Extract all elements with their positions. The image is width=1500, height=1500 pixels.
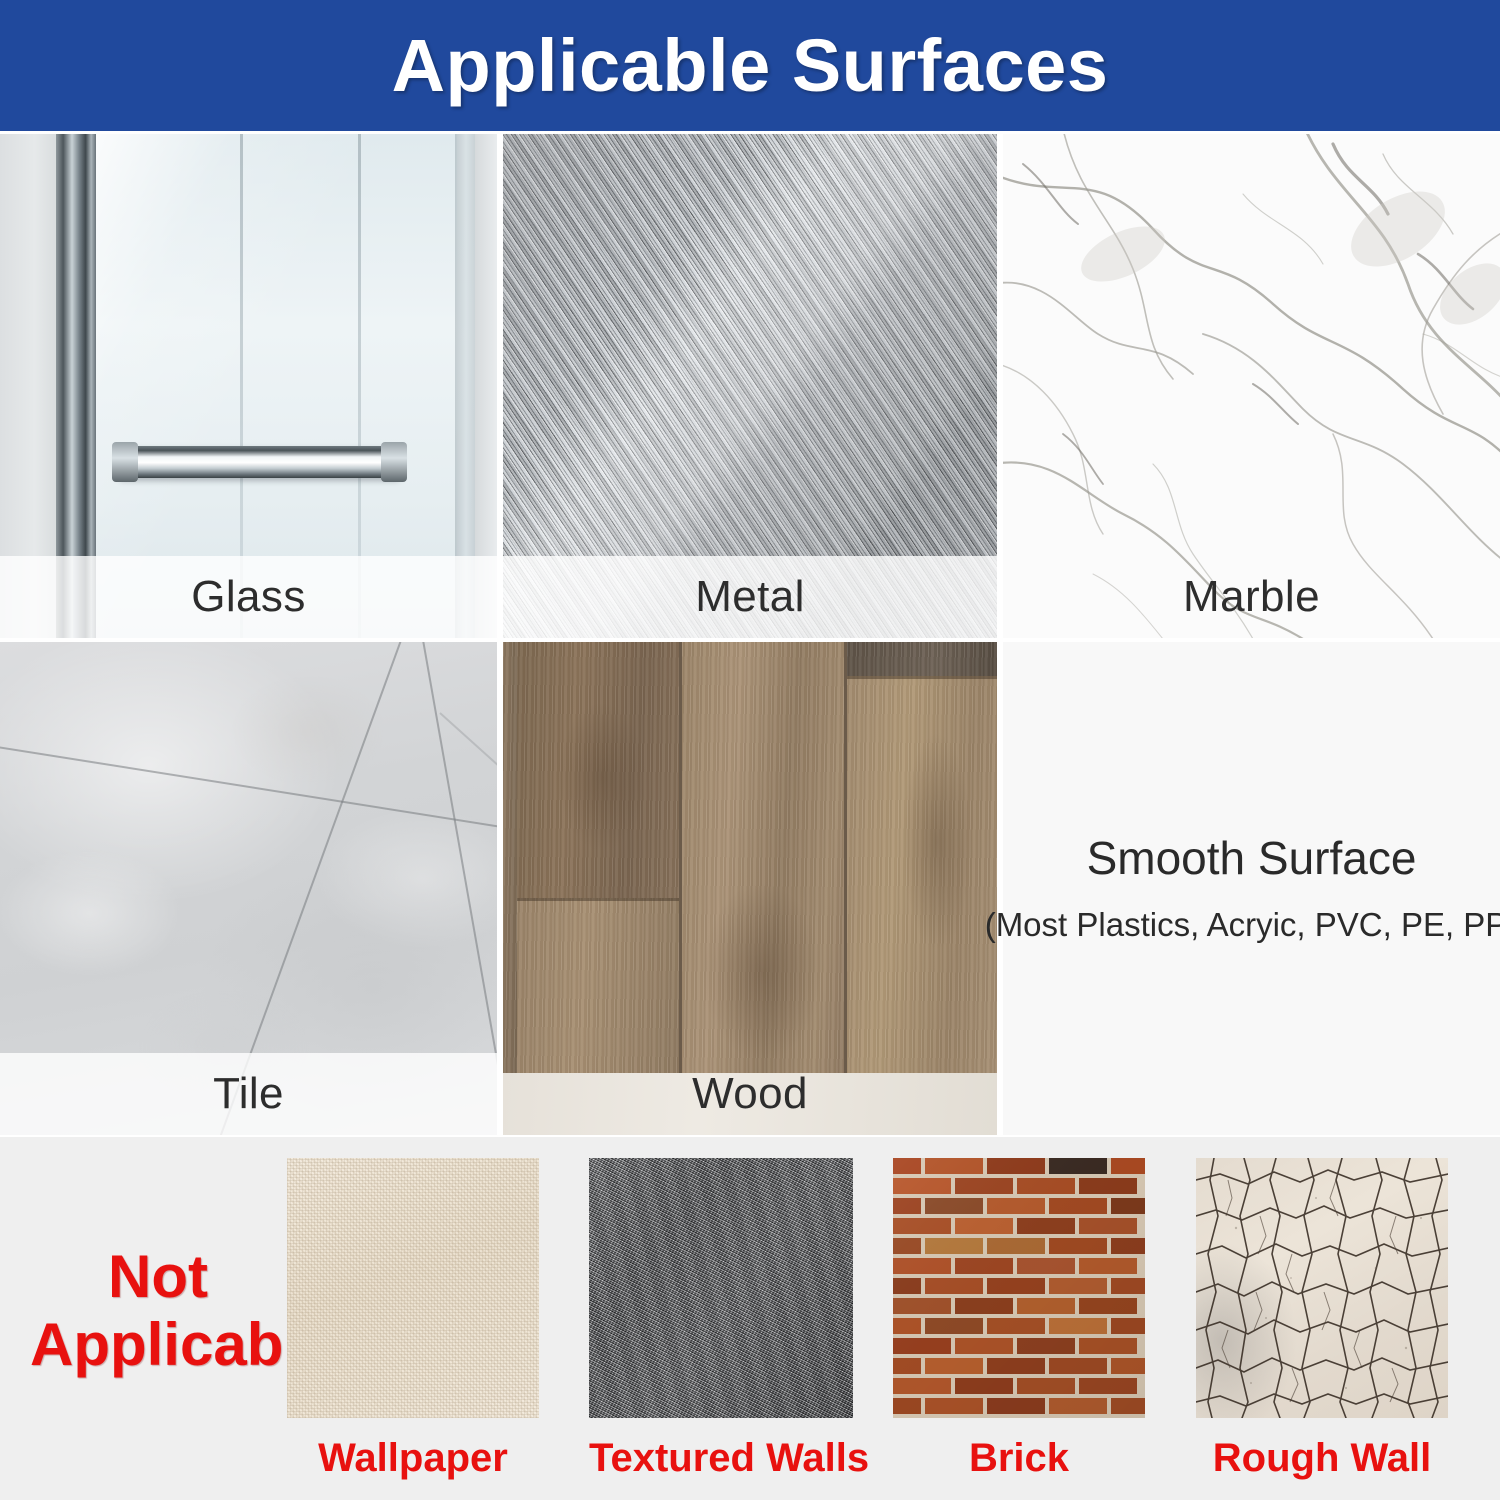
not-applicable-heading-line2: Applicable bbox=[30, 1311, 286, 1379]
tile-label-metal: Metal bbox=[695, 572, 805, 622]
tile-label-tile: Tile bbox=[213, 1069, 284, 1119]
tile-label-marble: Marble bbox=[1183, 572, 1320, 622]
brick-pattern bbox=[893, 1158, 1145, 1418]
surface-tile-marble: Marble bbox=[1003, 134, 1500, 638]
not-applicable-heading-line1: Not bbox=[30, 1243, 286, 1311]
page-title: Applicable Surfaces bbox=[392, 29, 1109, 103]
infographic-page: Applicable Surfaces Glass Metal bbox=[0, 0, 1500, 1500]
surface-tile-glass: Glass bbox=[0, 134, 497, 638]
tile-label-strip: Tile bbox=[0, 1053, 497, 1135]
not-applicable-label-wallpaper: Wallpaper bbox=[287, 1436, 539, 1481]
surface-tile-wood: Wood bbox=[503, 642, 997, 1135]
not-applicable-item-rough-wall: Rough Wall bbox=[1196, 1158, 1448, 1488]
wallpaper-texture bbox=[287, 1158, 539, 1418]
crack-network bbox=[1196, 1158, 1448, 1418]
cracked-rough-wall-texture bbox=[1196, 1158, 1448, 1418]
smooth-surface-title: Smooth Surface bbox=[1087, 833, 1417, 884]
wood-plank bbox=[517, 642, 679, 898]
smooth-surface-subtitle: (Most Plastics, Acryic, PVC, PE, PP) bbox=[985, 906, 1500, 944]
tile-label-strip: Metal bbox=[503, 556, 997, 638]
header-banner: Applicable Surfaces bbox=[0, 0, 1500, 131]
not-applicable-item-wallpaper: Wallpaper bbox=[287, 1158, 539, 1488]
brick-wall-texture bbox=[893, 1158, 1145, 1418]
not-applicable-label-rough-wall: Rough Wall bbox=[1196, 1436, 1448, 1481]
tile-label-glass: Glass bbox=[191, 572, 305, 622]
tile-label-strip: Wood bbox=[503, 1053, 997, 1135]
glass-door-handle bbox=[118, 446, 401, 478]
not-applicable-label-brick: Brick bbox=[893, 1436, 1145, 1481]
not-applicable-label-textured-walls: Textured Walls bbox=[589, 1436, 853, 1481]
tile-label-strip: Marble bbox=[1003, 556, 1500, 638]
not-applicable-item-brick: Brick bbox=[893, 1158, 1145, 1488]
not-applicable-heading: Not Applicable bbox=[30, 1243, 286, 1379]
smooth-surface-cell: Smooth Surface (Most Plastics, Acryic, P… bbox=[1003, 642, 1500, 1135]
surface-tile-metal: Metal bbox=[503, 134, 997, 638]
wood-plank-dark bbox=[847, 642, 997, 676]
tile-label-strip: Glass bbox=[0, 556, 497, 638]
not-applicable-item-textured-walls: Textured Walls bbox=[589, 1158, 853, 1488]
textured-wall-texture bbox=[589, 1158, 853, 1418]
tile-label-wood: Wood bbox=[692, 1069, 808, 1119]
surface-tile-tile: Tile bbox=[0, 642, 497, 1135]
